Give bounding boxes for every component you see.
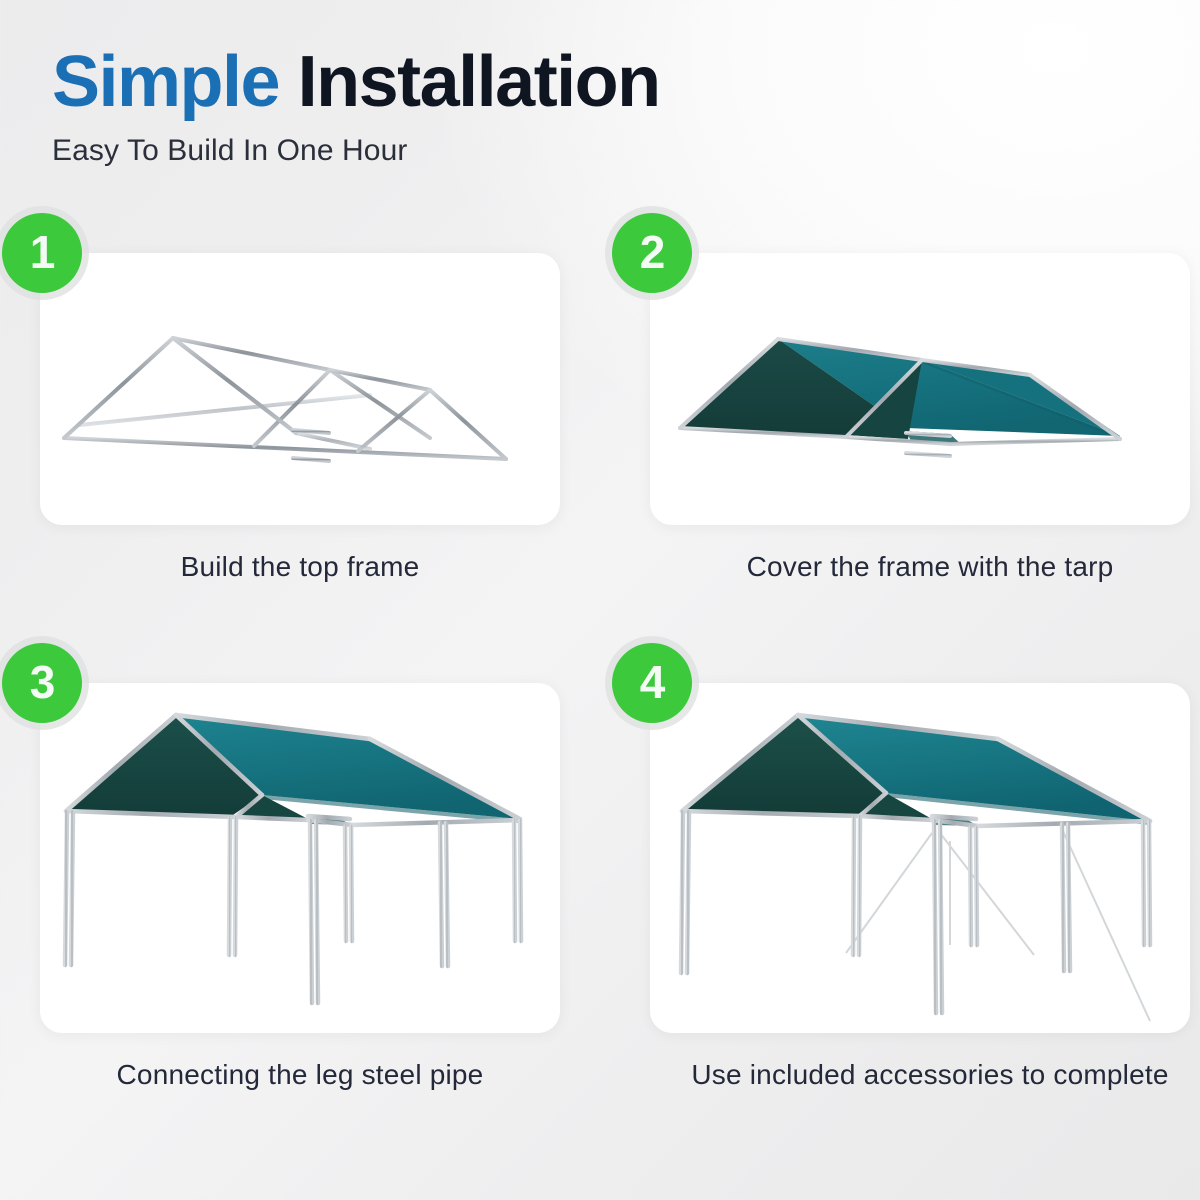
carport-with-legs-icon [40, 683, 560, 1033]
step-4-image-card: 4 [650, 683, 1190, 1033]
title-highlight: Simple [52, 42, 279, 122]
step-3-badge: 3 [2, 643, 82, 723]
step-card-2: 2 [650, 253, 1200, 583]
step-card-4: 4 [650, 683, 1200, 1091]
step-1-image-card: 1 [40, 253, 560, 525]
step-4-caption: Use included accessories to complete [650, 1059, 1200, 1091]
carport-with-braces-icon [650, 683, 1190, 1033]
step-3-caption: Connecting the leg steel pipe [40, 1059, 560, 1091]
bare-frame-icon [40, 253, 560, 525]
page-subtitle: Easy To Build In One Hour [52, 134, 660, 168]
step-1-caption: Build the top frame [40, 551, 560, 583]
step-1-number: 1 [30, 229, 55, 275]
title-rest: Installation [298, 42, 660, 122]
step-4-number: 4 [640, 659, 665, 705]
infographic-page: Simple Installation Easy To Build In One… [0, 0, 1200, 1200]
page-title: Simple Installation [52, 46, 660, 118]
step-2-image-card: 2 [650, 253, 1190, 525]
step-card-1: 1 [40, 253, 560, 583]
step-card-3: 3 [40, 683, 560, 1091]
step-2-badge: 2 [612, 213, 692, 293]
step-1-badge: 1 [2, 213, 82, 293]
header: Simple Installation Easy To Build In One… [52, 46, 660, 168]
step-2-number: 2 [640, 229, 665, 275]
tarp-covered-frame-icon [650, 253, 1190, 525]
step-3-number: 3 [30, 659, 55, 705]
step-3-image-card: 3 [40, 683, 560, 1033]
step-2-caption: Cover the frame with the tarp [650, 551, 1200, 583]
step-4-badge: 4 [612, 643, 692, 723]
